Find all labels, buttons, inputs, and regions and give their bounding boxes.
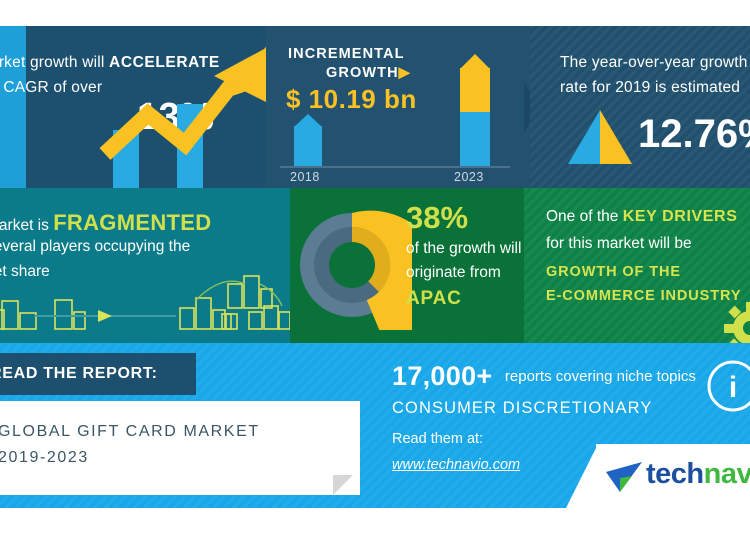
technavio-url-link[interactable]: www.technavio.com xyxy=(392,457,520,473)
panel-fragmented-market: market is FRAGMENTED several players occ… xyxy=(0,188,290,343)
apac-percent: 38% xyxy=(406,200,468,236)
infographic-canvas: arket growth will ACCELERATE a CAGR of o… xyxy=(0,0,750,536)
bar-2018 xyxy=(294,114,322,166)
technavio-logo[interactable]: technavi xyxy=(596,444,750,508)
panel-incremental-growth: INCREMENTAL GROWTH▶ $ 10.19 bn 2018 2023 xyxy=(266,26,530,188)
incremental-value: $ 10.19 bn xyxy=(286,84,417,115)
circle-badge-icon: i xyxy=(706,359,750,413)
axis-line xyxy=(280,166,510,168)
year-2018-label: 2018 xyxy=(290,170,320,184)
report-title: GLOBAL GIFT CARD MARKET xyxy=(0,423,260,441)
read-the-report-label: READ THE REPORT: xyxy=(0,365,158,383)
city-skyline-icon xyxy=(0,188,290,343)
apac-line-2: originate from xyxy=(406,264,501,282)
logo-plate-slant xyxy=(566,444,598,508)
incremental-title-line2: GROWTH▶ xyxy=(326,65,411,81)
yoy-value: 12.76% xyxy=(638,112,750,157)
reports-count-line: 17,000+ reports covering niche topics xyxy=(392,361,696,392)
incremental-title-line1: INCREMENTAL xyxy=(288,46,405,62)
technavio-wordmark: technavi xyxy=(646,458,750,491)
technavio-arrow-icon xyxy=(602,458,648,498)
card-fold-corner xyxy=(333,475,353,495)
panel-apac-share: 38% of the growth will originate from AP… xyxy=(290,188,524,343)
report-years: 2019-2023 xyxy=(0,449,89,467)
drivers-line-1: One of the KEY DRIVERS xyxy=(546,208,737,226)
up-trend-arrow-icon xyxy=(0,26,266,188)
top-row: arket growth will ACCELERATE a CAGR of o… xyxy=(0,26,750,188)
panel-market-growth: arket growth will ACCELERATE a CAGR of o… xyxy=(0,26,266,188)
panel-yoy-growth: The year-over-year growth rate for 2019 … xyxy=(530,26,750,188)
yoy-line-1: The year-over-year growth xyxy=(560,54,748,72)
bar-2023 xyxy=(460,54,490,166)
read-the-report-banner: READ THE REPORT: xyxy=(0,353,196,395)
gear-icon xyxy=(722,298,750,343)
middle-row: market is FRAGMENTED several players occ… xyxy=(0,188,750,343)
report-title-card[interactable]: GLOBAL GIFT CARD MARKET 2019-2023 xyxy=(0,401,360,495)
yoy-line-2: rate for 2019 is estimated xyxy=(560,79,740,97)
apac-region: APAC xyxy=(406,288,462,310)
donut-chart-icon xyxy=(292,200,412,330)
svg-text:i: i xyxy=(729,371,737,404)
triangle-growth-icon xyxy=(564,108,636,166)
report-category: CONSUMER DISCRETIONARY xyxy=(392,399,652,418)
drivers-line-4: E-COMMERCE INDUSTRY xyxy=(546,288,741,304)
apac-line-1: of the growth will xyxy=(406,240,521,258)
read-them-at-label: Read them at: xyxy=(392,431,483,447)
drivers-line-3: GROWTH OF THE xyxy=(546,264,681,280)
year-2023-label: 2023 xyxy=(454,170,484,184)
panel-key-drivers: One of the KEY DRIVERS for this market w… xyxy=(524,188,750,343)
drivers-line-2: for this market will be xyxy=(546,235,692,253)
